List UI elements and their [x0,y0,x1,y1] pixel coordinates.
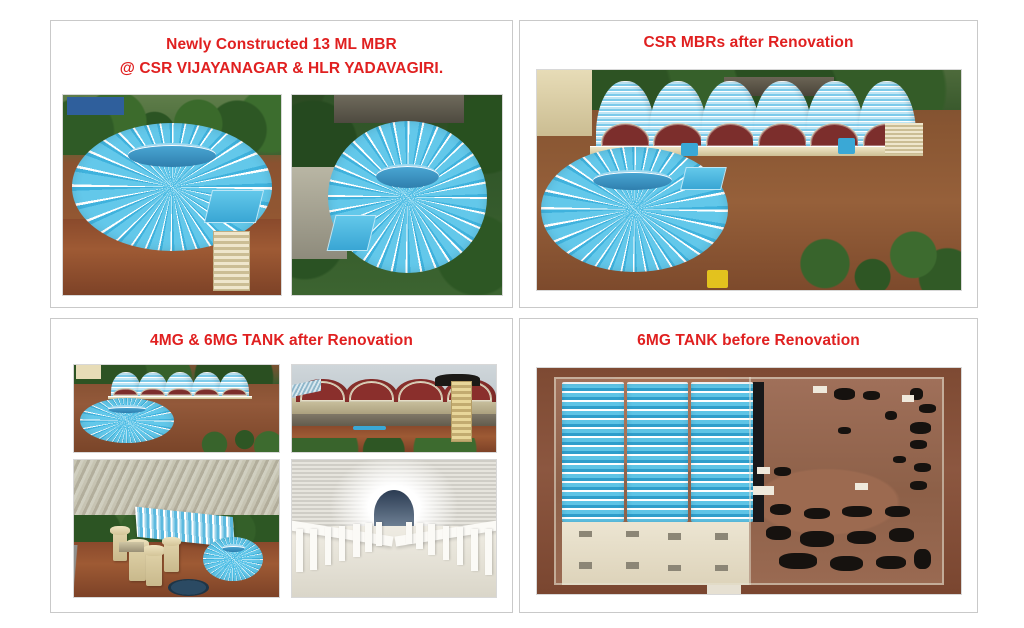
tank-structure [541,147,728,272]
gable-end [349,381,393,402]
service-staircase [885,123,923,154]
tank-structure [328,121,488,273]
photo-wide-aerial-city-towers [73,459,280,598]
arched-roof-bay [649,81,708,147]
panel-title-line-1: 4MG & 6MG TANK after Renovation [51,329,512,353]
photo-arched-halls-ground-level [291,364,497,453]
pond [168,579,209,595]
tank-lantern-vent [128,143,216,166]
pump-house [119,542,144,552]
scrub-vegetation [193,421,279,452]
tank-access-hatch [204,190,264,223]
panel-title: CSR MBRs after Renovation [520,21,977,55]
gable-end [758,123,807,147]
vault-ceiling [292,460,496,597]
tank-lantern-vent [108,405,146,412]
arched-roof-bay [345,379,398,402]
arched-roof-bay [753,81,812,147]
gable-end [706,123,755,147]
column [376,522,383,547]
column [325,527,332,565]
arched-halls-block [111,372,246,396]
panel-title: Newly Constructed 13 ML MBR @ CSR VIJAYA… [51,21,512,81]
column [457,527,464,565]
tank-structure [80,398,174,443]
panel-csr-mbrs-after-renovation: CSR MBRs after Renovation [519,20,978,308]
arched-roof-bay [165,372,195,396]
column [471,529,478,571]
gate-structure [707,585,741,594]
water-tower [146,545,162,586]
column [365,523,372,552]
tank-blue-radial-roof [541,147,728,272]
arched-halls-block [596,81,910,147]
far-end-opening [374,490,415,526]
photo-arched-halls-round-tank-aerial [73,364,280,453]
panel-title-line-1: Newly Constructed 13 ML MBR [51,33,512,57]
blue-pipe [353,426,386,430]
arched-roof-bay [192,372,222,396]
arched-roof-bay [138,372,168,396]
panel-title: 6MG TANK before Renovation [520,319,977,353]
photo-top-down-before-renovation [536,367,962,595]
slide-canvas: Newly Constructed 13 ML MBR @ CSR VIJAYA… [0,0,1024,628]
water-tower [164,537,178,573]
blue-pipe [838,138,855,153]
photo-arched-halls-and-tank-aerial [536,69,962,291]
tank-staircase [213,231,250,291]
boundary-road [74,545,107,597]
photo-interior-barrel-vault [291,459,497,598]
blue-building-roof [67,97,124,115]
column [310,529,317,570]
adjacent-building [334,95,464,123]
column [353,524,360,557]
column [485,529,492,576]
photo-circular-mbr-tank-aerial [62,94,282,296]
gable-end [601,123,650,147]
tank-lantern-vent [222,544,245,552]
scrub-vegetation [791,202,961,290]
tank-lantern-vent [376,164,440,188]
panel-title-line-1: 6MG TANK before Renovation [520,329,977,353]
column [443,526,450,560]
yellow-excavator [707,270,728,288]
arched-roof-bay [701,81,760,147]
tank-structure [203,537,262,581]
column [296,529,303,573]
arched-roof-bay [111,372,141,396]
panel-title-line-1: CSR MBRs after Renovation [520,31,977,55]
side-building [76,365,101,379]
panel-title-line-2: @ CSR VIJAYANAGAR & HLR YADAVAGIRI. [51,57,512,81]
column [428,524,435,554]
photo-circular-mbr-tank-top-aerial [291,94,503,296]
column [406,522,413,544]
scaffold-staircase [451,381,471,442]
side-building [537,70,592,136]
panel-tanks-after-renovation: 4MG & 6MG TANK after Renovation [50,318,513,613]
tank-access-hatch [680,167,727,190]
panel-newly-constructed-mbr: Newly Constructed 13 ML MBR @ CSR VIJAYA… [50,20,513,308]
panel-tank-before-renovation: 6MG TANK before Renovation [519,318,978,613]
panel-title: 4MG & 6MG TANK after Renovation [51,319,512,353]
arched-roof-bay [806,81,865,147]
arched-roof-bay [596,81,655,147]
internal-divider-wall [749,377,751,585]
column [416,523,423,549]
tank-lantern-vent [593,170,671,190]
arched-roof-bay [219,372,249,396]
column [339,526,346,562]
